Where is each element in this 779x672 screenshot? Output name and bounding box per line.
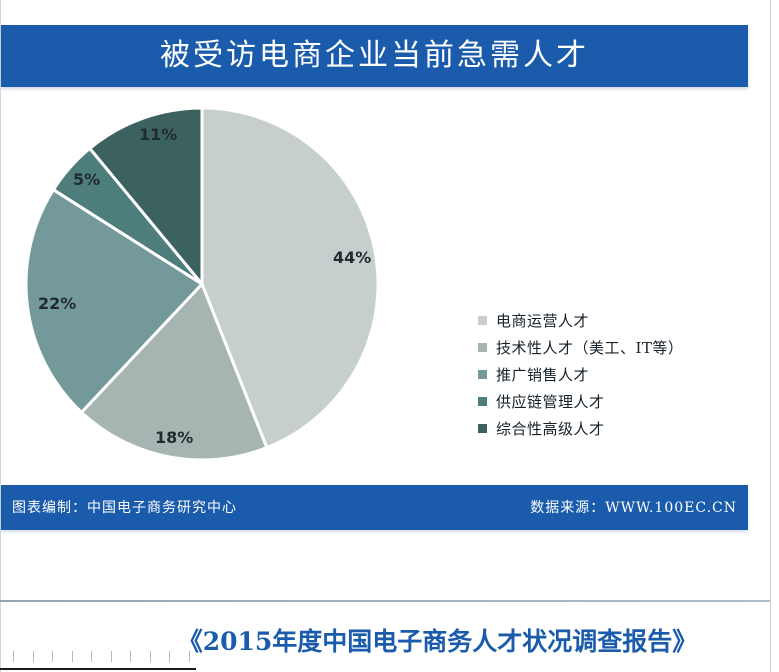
chart-footer-bar: 图表编制：中国电子商务研究中心 数据来源：WWW.100EC.CN [1,485,748,530]
legend-swatch-icon-4 [478,424,487,433]
ruler-tick [169,651,170,662]
ruler-tick [33,651,34,662]
ruler-tick [72,651,73,662]
pie-value-label-1: 18% [155,430,193,446]
slide-canvas: 被受访电商企业当前急需人才 44%18%22%5%11% 电商运营人才 技术性人… [0,0,779,672]
footer-source-text: 数据来源：WWW.100EC.CN [530,497,737,517]
legend-label-1: 技术性人才（美工、IT等） [496,337,683,358]
legend-item-2[interactable]: 推广销售人才 [478,361,683,388]
footer-credit-text: 图表编制：中国电子商务研究中心 [12,497,237,517]
ruler-tick [111,651,112,662]
ruler-baseline [0,668,196,670]
chart-title-bar: 被受访电商企业当前急需人才 [1,25,748,87]
pie-value-label-3: 5% [73,172,100,188]
pie-slice-group [26,108,378,460]
legend-label-0: 电商运营人才 [496,310,589,331]
legend-item-4[interactable]: 综合性高级人才 [478,415,683,442]
legend-label-3: 供应链管理人才 [496,391,605,412]
legend-swatch-icon-1 [478,343,487,352]
ruler-tick [52,651,53,662]
legend-swatch-icon-3 [478,397,487,406]
legend-item-3[interactable]: 供应链管理人才 [478,388,683,415]
page-title: 被受访电商企业当前急需人才 [160,41,589,71]
pie-chart-area: 44%18%22%5%11% 电商运营人才 技术性人才（美工、IT等） 推广销售… [0,95,748,480]
ruler-tick [189,651,190,662]
pie-value-label-4: 11% [139,127,177,143]
ruler-tick [130,651,131,662]
ruler-tick [13,651,14,662]
section-divider [0,600,770,602]
ruler-tick [150,651,151,662]
legend-item-0[interactable]: 电商运营人才 [478,307,683,334]
chart-legend: 电商运营人才 技术性人才（美工、IT等） 推广销售人才 供应链管理人才 综合性高… [478,307,683,442]
ruler-tick [91,651,92,662]
page-right-edge-rule [770,0,771,672]
legend-swatch-icon-2 [478,370,487,379]
legend-label-2: 推广销售人才 [496,364,589,385]
legend-item-1[interactable]: 技术性人才（美工、IT等） [478,334,683,361]
ruler-strip [0,651,200,672]
pie-value-label-0: 44% [333,250,371,266]
pie-value-label-2: 22% [38,296,76,312]
legend-swatch-icon-0 [478,316,487,325]
legend-label-4: 综合性高级人才 [496,418,605,439]
